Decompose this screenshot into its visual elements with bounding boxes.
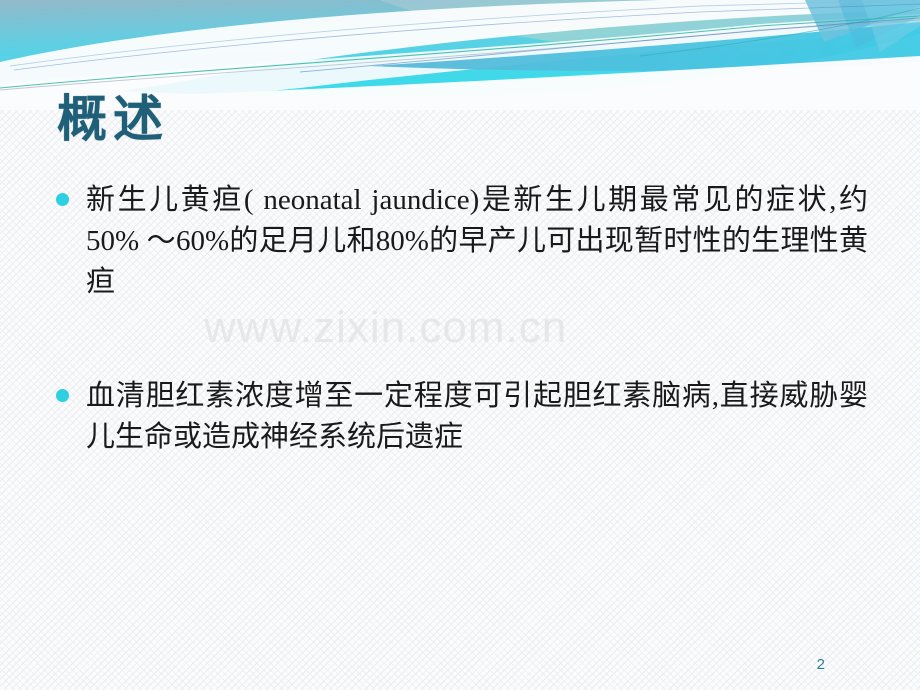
- page-number: 2: [0, 656, 825, 673]
- bullet-text: 血清胆红素浓度增至一定程度可引起胆红素脑病,直接威胁婴儿生命或造成神经系统后遗症: [86, 376, 868, 458]
- list-item: 新生儿黄疸( neonatal jaundice)是新生儿期最常见的症状,约50…: [56, 180, 868, 303]
- list-item: 血清胆红素浓度增至一定程度可引起胆红素脑病,直接威胁婴儿生命或造成神经系统后遗症: [56, 376, 868, 458]
- bullet-dot-icon: [56, 193, 69, 206]
- presentation-slide: 概述 www.zixin.com.cn 新生儿黄疸( neonatal jaun…: [0, 0, 920, 690]
- bullet-text: 新生儿黄疸( neonatal jaundice)是新生儿期最常见的症状,约50…: [86, 180, 868, 303]
- slide-title: 概述: [57, 93, 169, 146]
- slide-body: 新生儿黄疸( neonatal jaundice)是新生儿期最常见的症状,约50…: [56, 180, 868, 486]
- bullet-dot-icon: [56, 389, 69, 402]
